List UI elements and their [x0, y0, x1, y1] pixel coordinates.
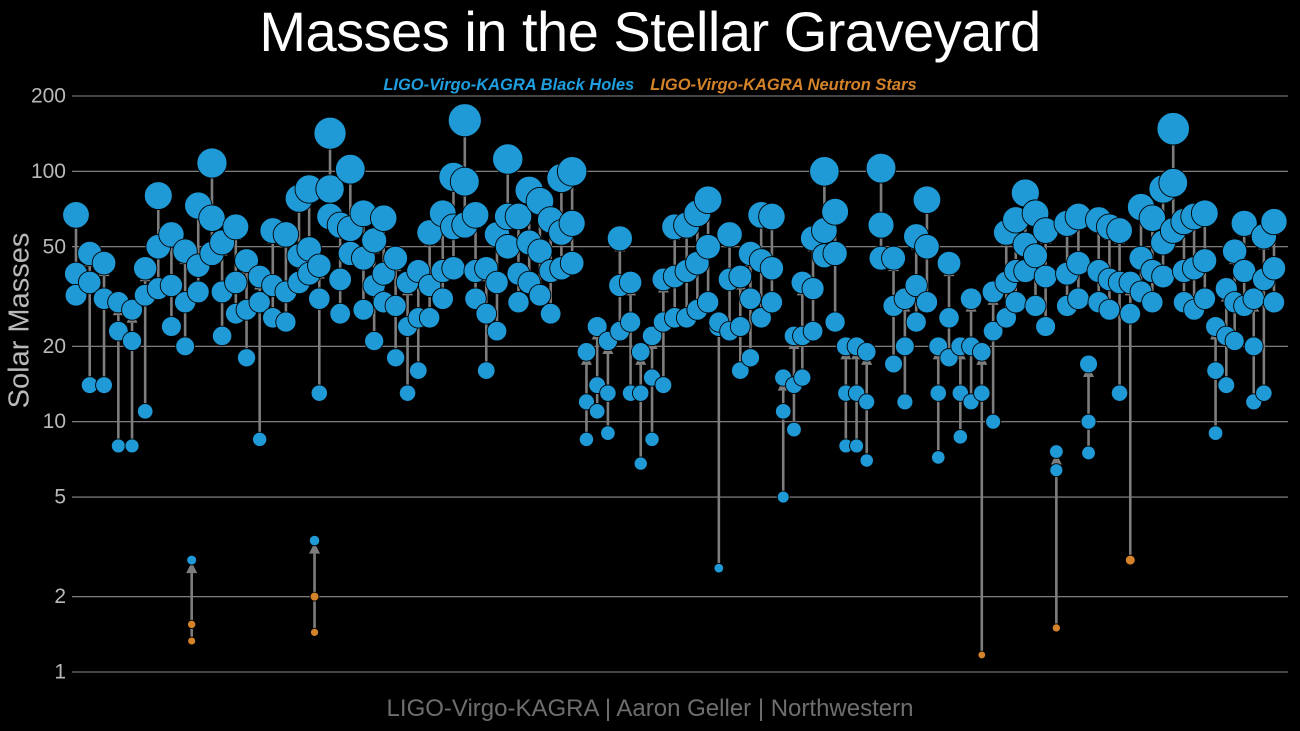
data-point-remnant	[729, 265, 752, 288]
data-point-secondary	[1052, 624, 1060, 632]
data-point-primary	[1050, 464, 1063, 477]
data-point-secondary	[187, 281, 209, 303]
data-point-remnant	[694, 186, 722, 214]
data-point-remnant	[577, 343, 596, 362]
data-point-primary	[1262, 257, 1285, 280]
data-point-secondary	[932, 451, 946, 465]
data-point-primary	[620, 312, 640, 332]
data-point-secondary	[589, 404, 605, 420]
y-tick-label: 1	[54, 661, 66, 684]
data-point-primary	[775, 404, 791, 420]
data-point-secondary	[529, 284, 551, 306]
merger-arrow	[713, 324, 724, 568]
data-point-secondary	[1036, 317, 1056, 337]
data-point-primary	[1034, 265, 1057, 288]
data-point-primary	[915, 234, 940, 259]
data-point-primary	[974, 385, 990, 401]
data-point-secondary	[176, 337, 195, 356]
data-point-remnant	[462, 202, 489, 229]
data-point-primary	[329, 268, 352, 291]
data-point-secondary	[1111, 385, 1127, 401]
data-point-primary	[600, 385, 616, 401]
data-point-remnant	[92, 251, 116, 275]
data-point-primary	[486, 271, 509, 294]
data-point-secondary	[1194, 288, 1216, 310]
data-point-primary	[1023, 244, 1047, 268]
merger-arrows-layer	[71, 122, 1280, 655]
merger-arrow	[1125, 284, 1136, 560]
data-point-secondary	[1263, 292, 1284, 313]
data-point-remnant	[63, 202, 90, 229]
data-point-primary	[1207, 362, 1225, 380]
data-point-secondary	[906, 312, 926, 332]
merger-arrow	[635, 354, 646, 464]
data-point-remnant	[314, 117, 346, 149]
data-point-secondary	[794, 369, 811, 386]
data-point-secondary	[419, 308, 439, 328]
data-point-secondary	[916, 292, 937, 313]
data-point-secondary	[386, 349, 404, 367]
data-point-secondary	[1218, 377, 1235, 394]
data-point-remnant	[1107, 218, 1133, 244]
data-point-secondary	[655, 377, 672, 394]
data-point-secondary	[253, 432, 267, 446]
data-point-remnant	[717, 222, 742, 247]
data-point-secondary	[125, 439, 139, 453]
data-point-remnant	[1049, 445, 1063, 459]
data-point-primary	[199, 205, 225, 231]
y-tick-label: 50	[43, 235, 66, 258]
data-point-secondary	[850, 439, 864, 453]
data-point-secondary	[761, 292, 782, 313]
data-point-secondary	[803, 321, 823, 341]
merger-arrow	[309, 543, 320, 633]
data-point-secondary	[697, 292, 718, 313]
data-point-remnant	[1191, 200, 1218, 227]
data-point-secondary	[1005, 292, 1026, 313]
data-point-remnant	[335, 154, 365, 184]
data-point-remnant	[960, 288, 982, 310]
data-point-secondary	[978, 651, 986, 659]
data-point-secondary	[137, 404, 153, 420]
y-axis-ticks: 125102050100200	[31, 85, 66, 684]
data-point-secondary	[237, 349, 255, 367]
grid-layer	[72, 96, 1288, 672]
data-point-remnant	[619, 271, 642, 294]
data-point-primary	[1159, 168, 1188, 197]
data-point-primary	[225, 271, 248, 294]
data-point-primary	[760, 257, 783, 280]
data-point-secondary	[96, 377, 113, 394]
merger-arrow	[778, 380, 789, 497]
data-point-secondary	[601, 426, 616, 441]
data-point-secondary	[311, 385, 327, 401]
data-point-secondary	[432, 288, 454, 310]
data-point-remnant	[448, 104, 481, 137]
data-point-secondary	[1152, 265, 1175, 288]
data-point-primary	[868, 212, 894, 238]
data-point-remnant	[882, 246, 906, 270]
data-point-secondary	[442, 257, 465, 280]
data-points-layer	[63, 104, 1287, 659]
data-point-primary	[188, 620, 196, 628]
chart-canvas: Masses in the Stellar Graveyard LIGO-Vir…	[0, 0, 1300, 731]
data-point-primary	[1081, 414, 1096, 429]
data-point-remnant	[133, 257, 156, 280]
data-point-secondary	[1099, 299, 1120, 320]
y-tick-label: 10	[43, 410, 66, 433]
data-point-primary	[802, 278, 824, 300]
data-point-secondary	[365, 331, 384, 350]
data-point-remnant	[913, 186, 941, 214]
data-point-secondary	[477, 362, 495, 380]
data-point-remnant	[273, 222, 298, 247]
data-point-remnant	[223, 214, 249, 240]
data-point-remnant	[309, 535, 319, 545]
data-point-remnant	[857, 343, 876, 362]
merger-arrow	[186, 562, 197, 641]
data-point-secondary	[508, 292, 529, 313]
data-point-primary	[1244, 337, 1263, 356]
data-point-secondary	[487, 321, 507, 341]
data-point-remnant	[810, 157, 840, 187]
data-point-remnant	[759, 203, 786, 230]
data-point-primary	[939, 308, 959, 328]
y-tick-label: 2	[54, 585, 66, 608]
data-point-secondary	[885, 355, 903, 373]
data-point-secondary	[986, 414, 1001, 429]
data-point-remnant	[384, 246, 408, 270]
data-point-secondary	[1256, 385, 1272, 401]
data-point-remnant	[197, 148, 227, 178]
data-point-remnant	[370, 205, 396, 231]
data-point-secondary	[353, 299, 374, 320]
data-point-remnant	[557, 157, 587, 187]
data-point-remnant	[1261, 208, 1287, 234]
data-point-primary	[122, 331, 141, 350]
data-point-secondary	[310, 628, 318, 636]
data-point-remnant	[631, 343, 650, 362]
data-point-secondary	[161, 317, 181, 337]
data-point-primary	[476, 303, 497, 324]
data-point-secondary	[1068, 288, 1090, 310]
y-tick-label: 100	[31, 160, 66, 183]
data-point-secondary	[495, 234, 520, 259]
data-point-secondary	[1025, 295, 1046, 316]
data-point-remnant	[607, 226, 632, 251]
data-point-secondary	[188, 637, 196, 645]
data-point-primary	[930, 385, 946, 401]
data-point-remnant	[493, 144, 523, 174]
data-point-remnant	[937, 251, 961, 275]
data-point-secondary	[860, 454, 873, 467]
data-point-primary	[385, 295, 406, 316]
credit-caption: LIGO-Virgo-KAGRA | Aaron Geller | Northw…	[0, 695, 1300, 723]
data-point-secondary	[1082, 446, 1096, 460]
data-point-primary	[823, 241, 847, 265]
data-point-secondary	[111, 439, 125, 453]
data-point-primary	[859, 394, 875, 410]
data-point-secondary	[953, 430, 967, 444]
data-point-secondary	[409, 362, 427, 380]
data-point-secondary	[540, 303, 561, 324]
merger-arrow	[1051, 454, 1062, 628]
merger-arrow	[314, 268, 325, 393]
data-point-primary	[730, 317, 750, 337]
data-point-remnant	[144, 182, 172, 210]
data-point-secondary	[212, 326, 231, 345]
data-point-primary	[740, 288, 762, 310]
data-point-primary	[1120, 303, 1141, 324]
y-tick-label: 20	[43, 335, 66, 358]
data-point-primary	[559, 210, 585, 236]
data-point-remnant	[973, 343, 992, 362]
data-point-remnant	[1243, 288, 1265, 310]
y-tick-label: 5	[54, 486, 66, 509]
scatter-plot: 125102050100200	[0, 0, 1300, 731]
data-point-primary	[309, 288, 331, 310]
y-tick-label: 200	[31, 85, 66, 108]
data-point-secondary	[579, 432, 593, 446]
data-point-secondary	[1142, 292, 1163, 313]
data-point-remnant	[187, 555, 197, 565]
data-point-secondary	[1225, 331, 1244, 350]
merger-arrow	[933, 348, 944, 457]
data-point-primary	[450, 167, 479, 196]
data-point-primary	[696, 234, 721, 259]
data-point-primary	[310, 592, 319, 601]
data-point-remnant	[822, 198, 849, 225]
data-point-remnant	[1157, 112, 1190, 145]
data-point-secondary	[897, 394, 913, 410]
data-point-primary	[895, 337, 914, 356]
merger-arrow	[1083, 366, 1094, 453]
data-point-secondary	[634, 457, 647, 470]
data-point-secondary	[399, 385, 415, 401]
data-point-secondary	[741, 349, 759, 367]
data-point-remnant	[866, 153, 896, 183]
data-point-secondary	[1208, 426, 1223, 441]
data-point-secondary	[777, 491, 789, 503]
data-point-primary	[1193, 249, 1217, 273]
data-point-secondary	[560, 251, 584, 275]
data-point-secondary	[330, 303, 351, 324]
data-point-secondary	[787, 422, 802, 437]
data-point-primary	[632, 385, 648, 401]
data-point-secondary	[825, 312, 845, 332]
data-point-secondary	[1125, 555, 1135, 565]
data-point-remnant	[308, 254, 332, 278]
data-point-secondary	[276, 312, 296, 332]
data-point-secondary	[645, 432, 659, 446]
data-point-secondary	[714, 563, 724, 573]
data-point-remnant	[1080, 355, 1098, 373]
